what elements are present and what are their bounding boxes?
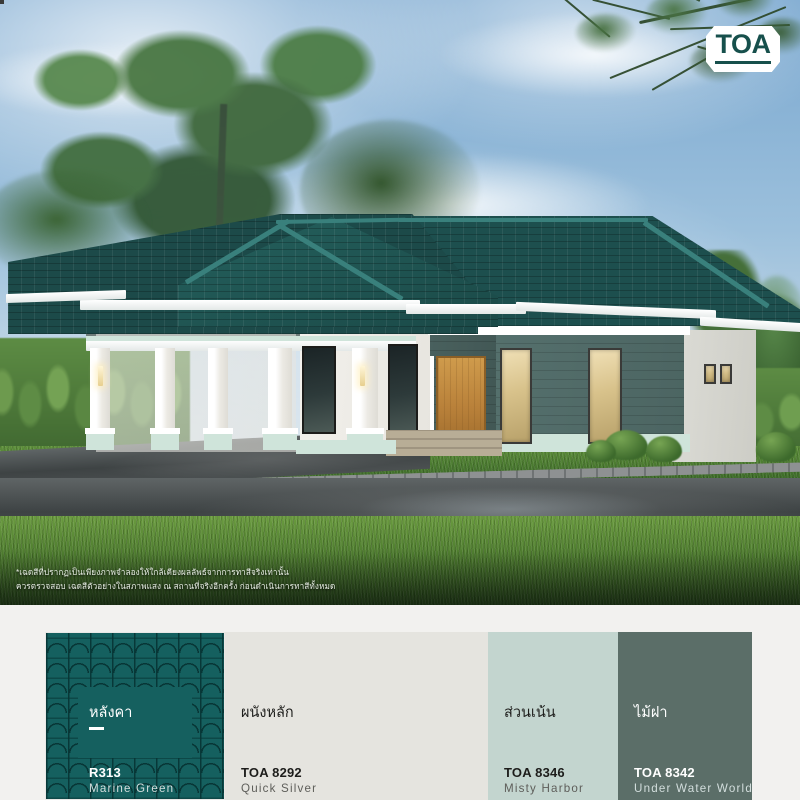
swatch-trim-role-label: ไม้ฝา [634,704,668,722]
window-porch-right [388,344,418,436]
porch-column-base [151,432,179,450]
swatch-trim[interactable]: ไม้ฝา TOA 8342 Under Water World [618,632,752,800]
swatch-main-wall-name: Quick Silver [241,782,317,795]
logo-underline [715,61,771,64]
swatch-roof-code: R313 [89,765,174,780]
swatch-roof-name: Marine Green [89,782,174,795]
swatch-trim-name: Under Water World [634,782,752,795]
swatch-accent-info: TOA 8346 Misty Harbor [504,765,584,795]
porch-column-base [263,432,297,450]
shrub [756,432,796,462]
fascia-center [406,304,526,314]
disclaimer-line-2: ควรตรวจสอบ เฉดสีตัวอย่างในสภาพแสง ณ สถาน… [16,580,335,593]
swatch-roof[interactable]: หลังคา R313 Marine Green [45,632,225,800]
porch-column-cap [203,428,233,434]
swatch-trim-role: ไม้ฝา [634,704,668,722]
window-small-left [704,364,716,384]
color-palette-strip: หลังคา R313 Marine Green ผนังหลัก TOA 82… [0,605,800,800]
porch-column-cap [85,428,115,434]
shrub [646,436,682,462]
window-bay-right [588,348,622,444]
shrub [586,440,616,462]
swatch-main-wall-code: TOA 8292 [241,765,317,780]
roof-ridge-right [398,218,648,222]
porch-column-cap [150,428,180,434]
swatch-roof-dash [89,727,104,729]
disclaimer-text: *เฉดสีที่ปรากฏเป็นเพียงภาพจำลองให้ใกล้เค… [16,566,335,593]
wall-lamp [98,366,103,386]
swatch-main-wall-role: ผนังหลัก [241,704,294,722]
window-porch-left [302,346,336,434]
swatch-main-wall[interactable]: ผนังหลัก TOA 8292 Quick Silver [225,632,488,800]
porch-column-cap [262,428,298,434]
swatch-accent-code: TOA 8346 [504,765,584,780]
wall-lamp [360,366,365,386]
fascia-front-left [80,300,420,310]
swatch-accent-role-label: ส่วนเน้น [504,704,556,722]
disclaimer-line-1: *เฉดสีที่ปรากฏเป็นเพียงภาพจำลองให้ใกล้เค… [16,566,335,579]
swatch-accent-role: ส่วนเน้น [504,704,556,722]
swatch-accent-name: Misty Harbor [504,782,584,795]
swatch-roof-info: R313 Marine Green [89,765,174,795]
window-small-right [720,364,732,384]
swatch-main-wall-info: TOA 8292 Quick Silver [241,765,317,795]
swatch-main-wall-role-label: ผนังหลัก [241,704,294,722]
porch-beam-mint-trim [86,336,416,341]
entry-steps [386,430,502,456]
porch-column-base [86,432,114,450]
swatch-trim-code: TOA 8342 [634,765,752,780]
swatch-accent[interactable]: ส่วนเน้น TOA 8346 Misty Harbor [488,632,618,800]
poster-canvas: *เฉดสีที่ปรากฏเป็นเพียงภาพจำลองให้ใกล้เค… [0,0,800,800]
entry-column-cap [346,428,384,434]
window-bay-left [500,348,532,444]
swatch-trim-info: TOA 8342 Under Water World [634,765,752,795]
swatch-roof-role: หลังคา [89,704,132,730]
porch-column-base [204,432,232,450]
porch-base-mint [296,440,396,454]
toa-shield-logo[interactable]: TOA [706,26,780,72]
house-render-image: *เฉดสีที่ปรากฏเป็นเพียงภาพจำลองให้ใกล้เค… [0,0,800,605]
swatch-roof-role-label: หลังคา [89,704,132,722]
logo-wordmark: TOA [706,31,780,58]
